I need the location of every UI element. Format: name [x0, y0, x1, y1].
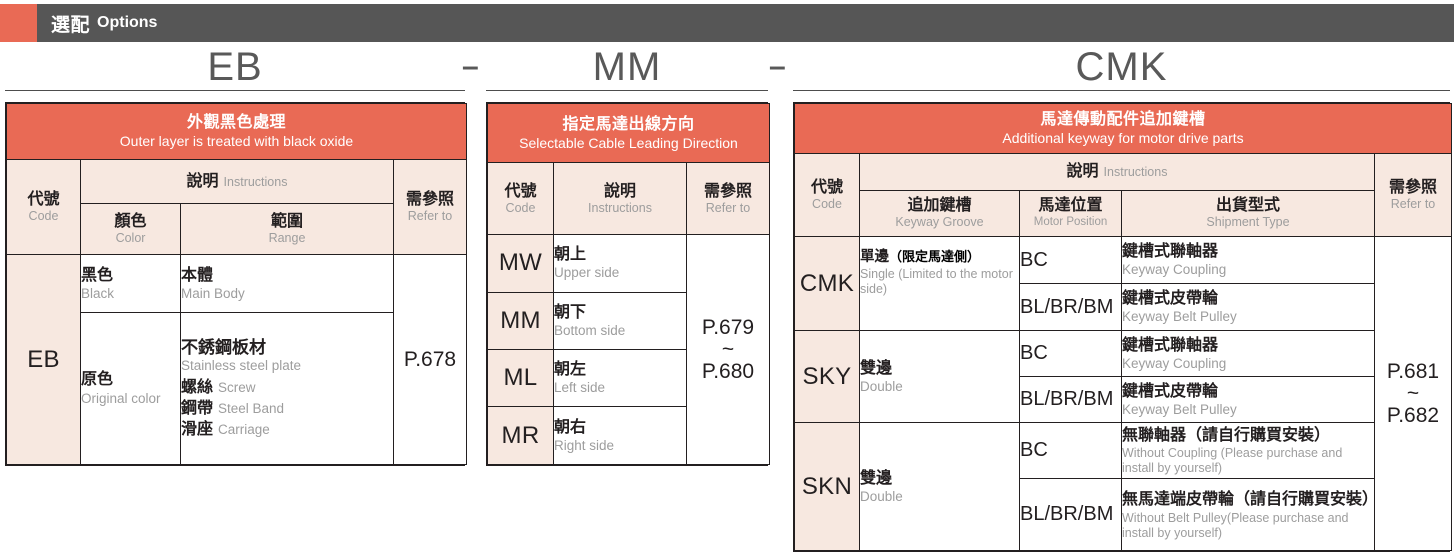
table-mm-th-code: 代號 Code [488, 163, 554, 235]
table-eb-th-instructions: 說明Instructions [81, 159, 394, 203]
table-cmk-th-keyway: 追加鍵槽 Keyway Groove [860, 190, 1020, 236]
table-cmk-code-cmk: CMK [795, 237, 860, 331]
table-cmk-motorpos-cmk-bc: BC [1020, 237, 1122, 284]
table-mm-desc-mm-en: Bottom side [554, 323, 686, 339]
table-cmk-th-motorpos-cn: 馬達位置 [1020, 196, 1121, 215]
table-cmk-th-refer-en: Refer to [1375, 197, 1451, 212]
table-cmk-th-keyway-cn: 追加鍵槽 [860, 196, 1019, 215]
table-cmk-motorpos-skn-bc: BC [1020, 423, 1122, 479]
table-cmk-th-refer-cn: 需參照 [1375, 178, 1451, 197]
separator-dash-2: – [769, 62, 786, 72]
table-cmk-shipment-sky-bc-en: Keyway Coupling [1122, 356, 1374, 372]
table-mm-desc-mr: 朝右 Right side [554, 407, 687, 465]
table-eb-banner-en: Outer layer is treated with black oxide [7, 133, 466, 150]
table-cmk-th-motorpos: 馬達位置 Motor Position [1020, 190, 1122, 236]
table-mm: 指定馬達出線方向 Selectable Cable Leading Direct… [486, 102, 768, 466]
table-eb-range-steelband-cn: 鋼帶 [181, 400, 213, 417]
table-mm-code-mw: MW [488, 235, 554, 292]
table-cmk-banner-en: Additional keyway for motor drive parts [795, 130, 1451, 147]
table-eb-range-steel-en: Stainless steel plate [181, 358, 393, 374]
table-cmk-code-sky: SKY [795, 331, 860, 423]
table-cmk-banner-cn: 馬達傳動配件追加鍵槽 [795, 110, 1451, 129]
table-cmk-th-instructions-en: Instructions [1104, 165, 1168, 179]
table-mm-banner: 指定馬達出線方向 Selectable Cable Leading Direct… [488, 104, 770, 163]
table-eb-th-refer: 需參照 Refer to [394, 159, 467, 255]
table-cmk-header-row-1: 代號 Code 說明Instructions 需參照 Refer to [795, 154, 1452, 191]
table-cmk-refer-tilde: ~ [1375, 385, 1451, 402]
table-cmk-keyway-cmk: 單邊（限定馬達側） Single (Limited to the motor s… [860, 237, 1020, 331]
table-eb-refer-value: P.678 [394, 255, 467, 465]
table-cmk-keyway-sky-en: Double [860, 379, 1019, 395]
table-mm-desc-ml-cn: 朝左 [554, 360, 686, 380]
table-eb-code-value: EB [7, 255, 81, 465]
table-mm-th-refer: 需參照 Refer to [687, 163, 770, 235]
table-eb-header-row-1: 代號 Code 說明Instructions 需參照 Refer to [7, 159, 467, 203]
table-mm-th-refer-cn: 需參照 [687, 182, 769, 201]
table-row: SKN 雙邊 Double BC 無聯軸器（請自行購買安裝） Without C… [795, 423, 1452, 479]
table-cmk-motorpos-cmk-bl: BL/BR/BM [1020, 284, 1122, 331]
table-cmk-th-refer: 需參照 Refer to [1375, 154, 1452, 237]
table-eb-color-black-cn: 黑色 [81, 266, 180, 286]
section-title-cmk: CMK [793, 46, 1450, 91]
table-cmk: 馬達傳動配件追加鍵槽 Additional keyway for motor d… [793, 102, 1450, 552]
table-eb-range-carriage-en: Carriage [218, 422, 270, 437]
table-cmk-refer-line1: P.681 [1375, 358, 1451, 385]
table-eb-banner-row: 外觀黑色處理 Outer layer is treated with black… [7, 104, 467, 160]
table-cmk-shipment-cmk-bl: 鍵槽式皮帶輪 Keyway Belt Pulley [1122, 284, 1375, 331]
table-cmk-shipment-skn-bc-cn: 無聯軸器（請自行購買安裝） [1122, 426, 1374, 446]
table-eb-color-black: 黑色 Black [81, 255, 181, 313]
table-mm-desc-mr-cn: 朝右 [554, 418, 686, 438]
table-eb-range-steelband: 鋼帶Steel Band [181, 398, 393, 419]
table-cmk-shipment-sky-bc-cn: 鍵槽式聯軸器 [1122, 336, 1374, 356]
table-row: EB 黑色 Black 本體 Main Body P.678 [7, 255, 467, 313]
table-mm-banner-en: Selectable Cable Leading Direction [488, 135, 769, 152]
table-cmk-th-shipment-cn: 出貨型式 [1122, 196, 1374, 215]
table-eb-th-code-cn: 代號 [7, 190, 80, 209]
table-cmk-keyway-skn-en: Double [860, 489, 1019, 505]
table-eb-range-carriage: 滑座Carriage [181, 419, 393, 440]
table-eb-th-range: 範圍 Range [181, 204, 394, 255]
table-eb-th-refer-en: Refer to [394, 209, 466, 224]
table-eb-th-refer-cn: 需參照 [394, 190, 466, 209]
table-cmk-shipment-sky-bc: 鍵槽式聯軸器 Keyway Coupling [1122, 331, 1375, 377]
table-mm-desc-mm: 朝下 Bottom side [554, 292, 687, 349]
header-title-cn: 選配 [51, 10, 90, 37]
table-eb-th-color-cn: 顏色 [81, 212, 180, 231]
table-eb-th-code: 代號 Code [7, 159, 81, 255]
options-spec-page: 選配 Options EB – MM – CMK 外觀黑色處理 Outer la… [0, 0, 1454, 559]
table-mm-desc-mw: 朝上 Upper side [554, 235, 687, 292]
section-title-cmk-text: CMK [793, 46, 1450, 88]
table-mm-th-refer-en: Refer to [687, 201, 769, 216]
table-cmk-shipment-skn-bl: 無馬達端皮帶輪（請自行購買安裝） Without Belt Pulley(Ple… [1122, 479, 1375, 551]
table-eb-range-steelband-en: Steel Band [218, 401, 284, 416]
table-eb-color-original: 原色 Original color [81, 313, 181, 465]
table-eb-color-original-en: Original color [81, 390, 180, 407]
table-cmk-refer-line2: P.682 [1375, 402, 1451, 429]
table-cmk-banner-row: 馬達傳動配件追加鍵槽 Additional keyway for motor d… [795, 104, 1452, 154]
table-cmk-motorpos-sky-bc: BC [1020, 331, 1122, 377]
table-cmk-th-keyway-en: Keyway Groove [860, 215, 1019, 230]
table-mm-desc-mr-en: Right side [554, 438, 686, 454]
table-cmk-shipment-sky-bl-cn: 鍵槽式皮帶輪 [1122, 382, 1374, 402]
table-mm-th-code-cn: 代號 [488, 182, 553, 201]
table-eb-color-original-cn: 原色 [81, 370, 180, 390]
table-mm-desc-mm-cn: 朝下 [554, 303, 686, 323]
table-mm-desc-ml: 朝左 Left side [554, 350, 687, 407]
table-mm-th-instructions: 說明 Instructions [554, 163, 687, 235]
table-mm-desc-ml-en: Left side [554, 380, 686, 396]
table-eb-range-mainbody-en: Main Body [181, 286, 393, 302]
section-title-eb-rule [5, 90, 465, 91]
table-mm-code-mr: MR [488, 407, 554, 465]
header-title-en: Options [97, 14, 157, 32]
table-cmk-motorpos-skn-bl: BL/BR/BM [1020, 479, 1122, 551]
table-cmk-shipment-cmk-bc-cn: 鍵槽式聯軸器 [1122, 242, 1374, 262]
table-cmk-keyway-cmk-en: Single (Limited to the motor side) [860, 267, 1019, 297]
table-mm-banner-row: 指定馬達出線方向 Selectable Cable Leading Direct… [488, 104, 770, 163]
table-mm-th-instructions-en: Instructions [554, 201, 686, 216]
table-cmk-keyway-cmk-paren: （限定馬達側） [889, 249, 980, 264]
table-cmk-shipment-skn-bc-en: Without Coupling (Please purchase and in… [1122, 446, 1374, 476]
table-eb-range-carriage-cn: 滑座 [181, 421, 213, 438]
table-cmk-keyway-sky-cn: 雙邊 [860, 359, 1019, 379]
table-mm-code-ml: ML [488, 350, 554, 407]
table-eb-th-code-en: Code [7, 209, 80, 224]
table-cmk-th-motorpos-en: Motor Position [1020, 215, 1121, 230]
separator-dash-1: – [462, 62, 479, 72]
table-eb-range-steel-cn: 不銹鋼板材 [181, 338, 393, 358]
table-eb-banner: 外觀黑色處理 Outer layer is treated with black… [7, 104, 467, 160]
table-mm-header-row: 代號 Code 說明 Instructions 需參照 Refer to [488, 163, 770, 235]
table-mm-refer-line2: P.680 [687, 358, 769, 385]
table-cmk-shipment-sky-bl: 鍵槽式皮帶輪 Keyway Belt Pulley [1122, 377, 1375, 423]
section-title-mm-rule [486, 90, 768, 91]
table-mm-desc-mw-en: Upper side [554, 265, 686, 281]
table-cmk-th-code-cn: 代號 [795, 178, 859, 197]
table-mm-refer-tilde: ~ [687, 341, 769, 358]
table-cmk-keyway-skn: 雙邊 Double [860, 423, 1020, 551]
table-cmk-shipment-skn-bl-en: Without Belt Pulley(Please purchase and … [1122, 511, 1374, 541]
table-eb-range-screw-cn: 螺絲 [181, 379, 213, 396]
section-title-mm-text: MM [486, 46, 768, 88]
table-cmk-th-code: 代號 Code [795, 154, 860, 237]
table-eb-th-range-cn: 範圍 [181, 212, 393, 231]
table-eb-th-color-en: Color [81, 231, 180, 246]
table-cmk-refer-value: P.681 ~ P.682 [1375, 237, 1452, 551]
table-cmk-shipment-cmk-bc-en: Keyway Coupling [1122, 262, 1374, 278]
table-eb-range-screw-en: Screw [218, 380, 256, 395]
table-mm-code-mm: MM [488, 292, 554, 349]
table-cmk-keyway-cmk-cn: 單邊 [860, 249, 889, 265]
table-cmk-shipment-skn-bl-cn: 無馬達端皮帶輪（請自行購買安裝） [1122, 489, 1374, 511]
table-cmk-th-code-en: Code [795, 197, 859, 212]
section-title-eb-text: EB [5, 46, 465, 88]
table-mm-banner-cn: 指定馬達出線方向 [488, 115, 769, 134]
table-cmk-th-shipment-en: Shipment Type [1122, 215, 1374, 230]
table-cmk-keyway-sky: 雙邊 Double [860, 331, 1020, 423]
table-cmk-th-shipment: 出貨型式 Shipment Type [1122, 190, 1375, 236]
table-mm-th-code-en: Code [488, 201, 553, 216]
table-cmk-code-skn: SKN [795, 423, 860, 551]
table-eb-range-mainbody-cn: 本體 [181, 266, 393, 286]
table-cmk-shipment-cmk-bc: 鍵槽式聯軸器 Keyway Coupling [1122, 237, 1375, 284]
table-eb-range-mainbody: 本體 Main Body [181, 255, 394, 313]
table-eb-color-black-en: Black [81, 286, 180, 302]
table-eb: 外觀黑色處理 Outer layer is treated with black… [5, 102, 465, 466]
table-row: CMK 單邊（限定馬達側） Single (Limited to the mot… [795, 237, 1452, 284]
table-eb-range-original: 不銹鋼板材 Stainless steel plate 螺絲Screw 鋼帶St… [181, 313, 394, 465]
table-row: MW 朝上 Upper side P.679 ~ P.680 [488, 235, 770, 292]
table-cmk-shipment-cmk-bl-cn: 鍵槽式皮帶輪 [1122, 289, 1374, 309]
table-mm-refer-line1: P.679 [687, 314, 769, 341]
table-cmk-shipment-cmk-bl-en: Keyway Belt Pulley [1122, 309, 1374, 325]
table-cmk-motorpos-sky-bl: BL/BR/BM [1020, 377, 1122, 423]
table-row: SKY 雙邊 Double BC 鍵槽式聯軸器 Keyway Coupling [795, 331, 1452, 377]
table-cmk-shipment-skn-bc: 無聯軸器（請自行購買安裝） Without Coupling (Please p… [1122, 423, 1375, 479]
header-title-bar: 選配 Options [37, 4, 1454, 42]
header-color-swatch [0, 4, 37, 42]
table-cmk-th-instructions: 說明Instructions [860, 154, 1375, 191]
page-header-bar: 選配 Options [0, 4, 1454, 42]
table-eb-th-instructions-cn: 說明 [187, 173, 219, 190]
table-eb-th-range-en: Range [181, 231, 393, 246]
section-title-mm: MM [486, 46, 768, 91]
table-mm-th-instructions-cn: 說明 [554, 182, 686, 201]
table-mm-refer-value: P.679 ~ P.680 [687, 235, 770, 465]
table-eb-th-color: 顏色 Color [81, 204, 181, 255]
table-cmk-header-row-2: 追加鍵槽 Keyway Groove 馬達位置 Motor Position 出… [795, 190, 1452, 236]
table-eb-banner-cn: 外觀黑色處理 [7, 113, 466, 132]
table-eb-th-instructions-en: Instructions [224, 175, 288, 189]
section-title-eb: EB [5, 46, 465, 91]
table-eb-range-screw: 螺絲Screw [181, 377, 393, 398]
table-cmk-shipment-sky-bl-en: Keyway Belt Pulley [1122, 402, 1374, 418]
table-cmk-th-instructions-cn: 說明 [1067, 163, 1099, 180]
section-title-cmk-rule [793, 90, 1450, 91]
table-cmk-banner: 馬達傳動配件追加鍵槽 Additional keyway for motor d… [795, 104, 1452, 154]
table-mm-desc-mw-cn: 朝上 [554, 245, 686, 265]
table-cmk-keyway-skn-cn: 雙邊 [860, 469, 1019, 489]
